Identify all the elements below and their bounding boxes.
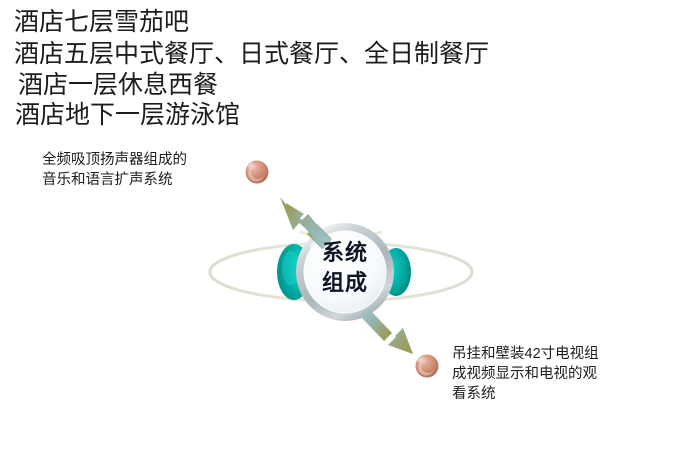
callout-audio-system: 全频吸顶扬声器组成的 音乐和语言扩声系统: [42, 150, 187, 190]
callout-video-line-3: 看系统: [452, 384, 599, 404]
copper-bullet-top-icon: [246, 161, 269, 184]
copper-bullet-bottom-icon: [416, 355, 439, 378]
callout-video-line-2: 成视频显示和电视的观: [452, 364, 599, 384]
callout-audio-line-2: 音乐和语言扩声系统: [42, 170, 187, 190]
callout-audio-line-1: 全频吸顶扬声器组成的: [42, 150, 187, 170]
arrow-up-left-icon: [280, 197, 332, 249]
slide-canvas: 酒店七层雪茄吧 酒店五层中式餐厅、日式餐厅、全日制餐厅 酒店一层休息西餐 酒店地…: [0, 0, 676, 449]
arrow-down-right-icon: [360, 308, 413, 354]
callout-video-line-1: 吊挂和壁装42寸电视组: [452, 344, 599, 364]
callout-video-system: 吊挂和壁装42寸电视组 成视频显示和电视的观 看系统: [452, 344, 599, 404]
